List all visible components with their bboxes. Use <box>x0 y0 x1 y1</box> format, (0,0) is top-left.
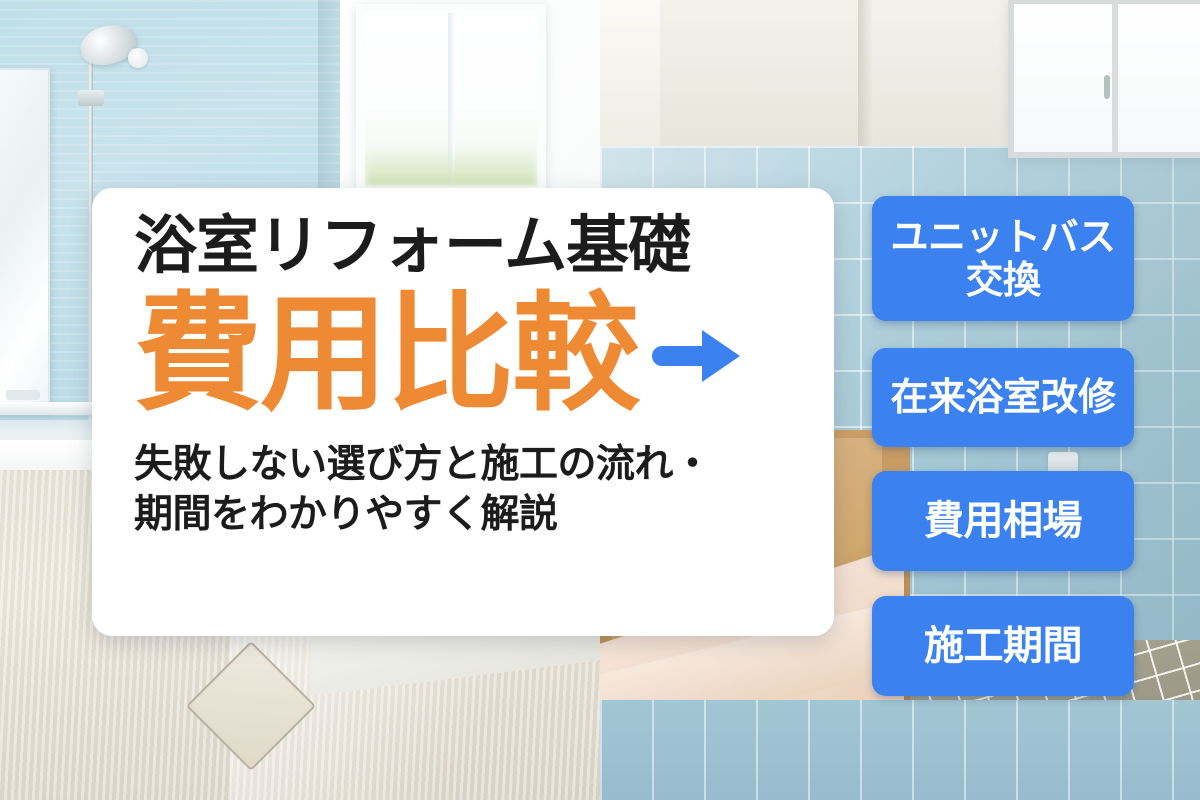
shower-slider <box>78 90 104 106</box>
badge-label-3: 費用相場 <box>924 499 1082 544</box>
headline-card: 浴室リフォーム基礎 費用比較 失敗しない選び方と施工の流れ・ 期間をわかりやすく… <box>92 188 834 636</box>
page-title: 費用比較 <box>134 291 638 419</box>
mirror-handle <box>6 390 40 400</box>
arrow-head <box>702 330 740 382</box>
window-frame-right <box>1008 0 1200 158</box>
bathroom-mirror <box>0 68 50 413</box>
card-title-row: 費用比較 <box>134 282 800 428</box>
upper-wall-left <box>600 0 660 150</box>
arrow-right-icon <box>652 328 748 382</box>
card-heading: 浴室リフォーム基礎 <box>134 214 800 278</box>
badge-label-1: ユニットバス 交換 <box>890 216 1115 301</box>
wall-corner-line <box>858 0 874 152</box>
badge-cost-market-rate[interactable]: 費用相場 <box>872 471 1134 571</box>
card-subtitle-line-1: 失敗しない選び方と施工の流れ・ <box>134 440 800 490</box>
card-subtitle-line-2: 期間をわかりやすく解説 <box>134 490 800 540</box>
badge-label-1-line-2: 交換 <box>890 259 1115 302</box>
window-greenery <box>367 149 536 185</box>
window-mullion-right <box>1112 4 1118 152</box>
badge-label-1-line-1: ユニットバス <box>890 216 1115 259</box>
thumbnail-canvas: 浴室リフォーム基礎 費用比較 失敗しない選び方と施工の流れ・ 期間をわかりやすく… <box>0 0 1200 800</box>
badge-unit-bath-replacement[interactable]: ユニットバス 交換 <box>872 196 1134 321</box>
window-frame-left <box>356 4 546 194</box>
badge-label-2: 在来浴室改修 <box>890 376 1115 419</box>
badge-label-4: 施工期間 <box>924 624 1082 669</box>
lower-tile-band <box>600 700 1200 800</box>
badge-list: ユニットバス 交換 在来浴室改修 費用相場 施工期間 <box>872 196 1134 696</box>
badge-conventional-bath-renovation[interactable]: 在来浴室改修 <box>872 348 1134 447</box>
shower-hook <box>128 48 148 68</box>
badge-construction-period[interactable]: 施工期間 <box>872 596 1134 696</box>
card-subtitle: 失敗しない選び方と施工の流れ・ 期間をわかりやすく解説 <box>134 440 800 540</box>
window-handle <box>1104 75 1110 99</box>
